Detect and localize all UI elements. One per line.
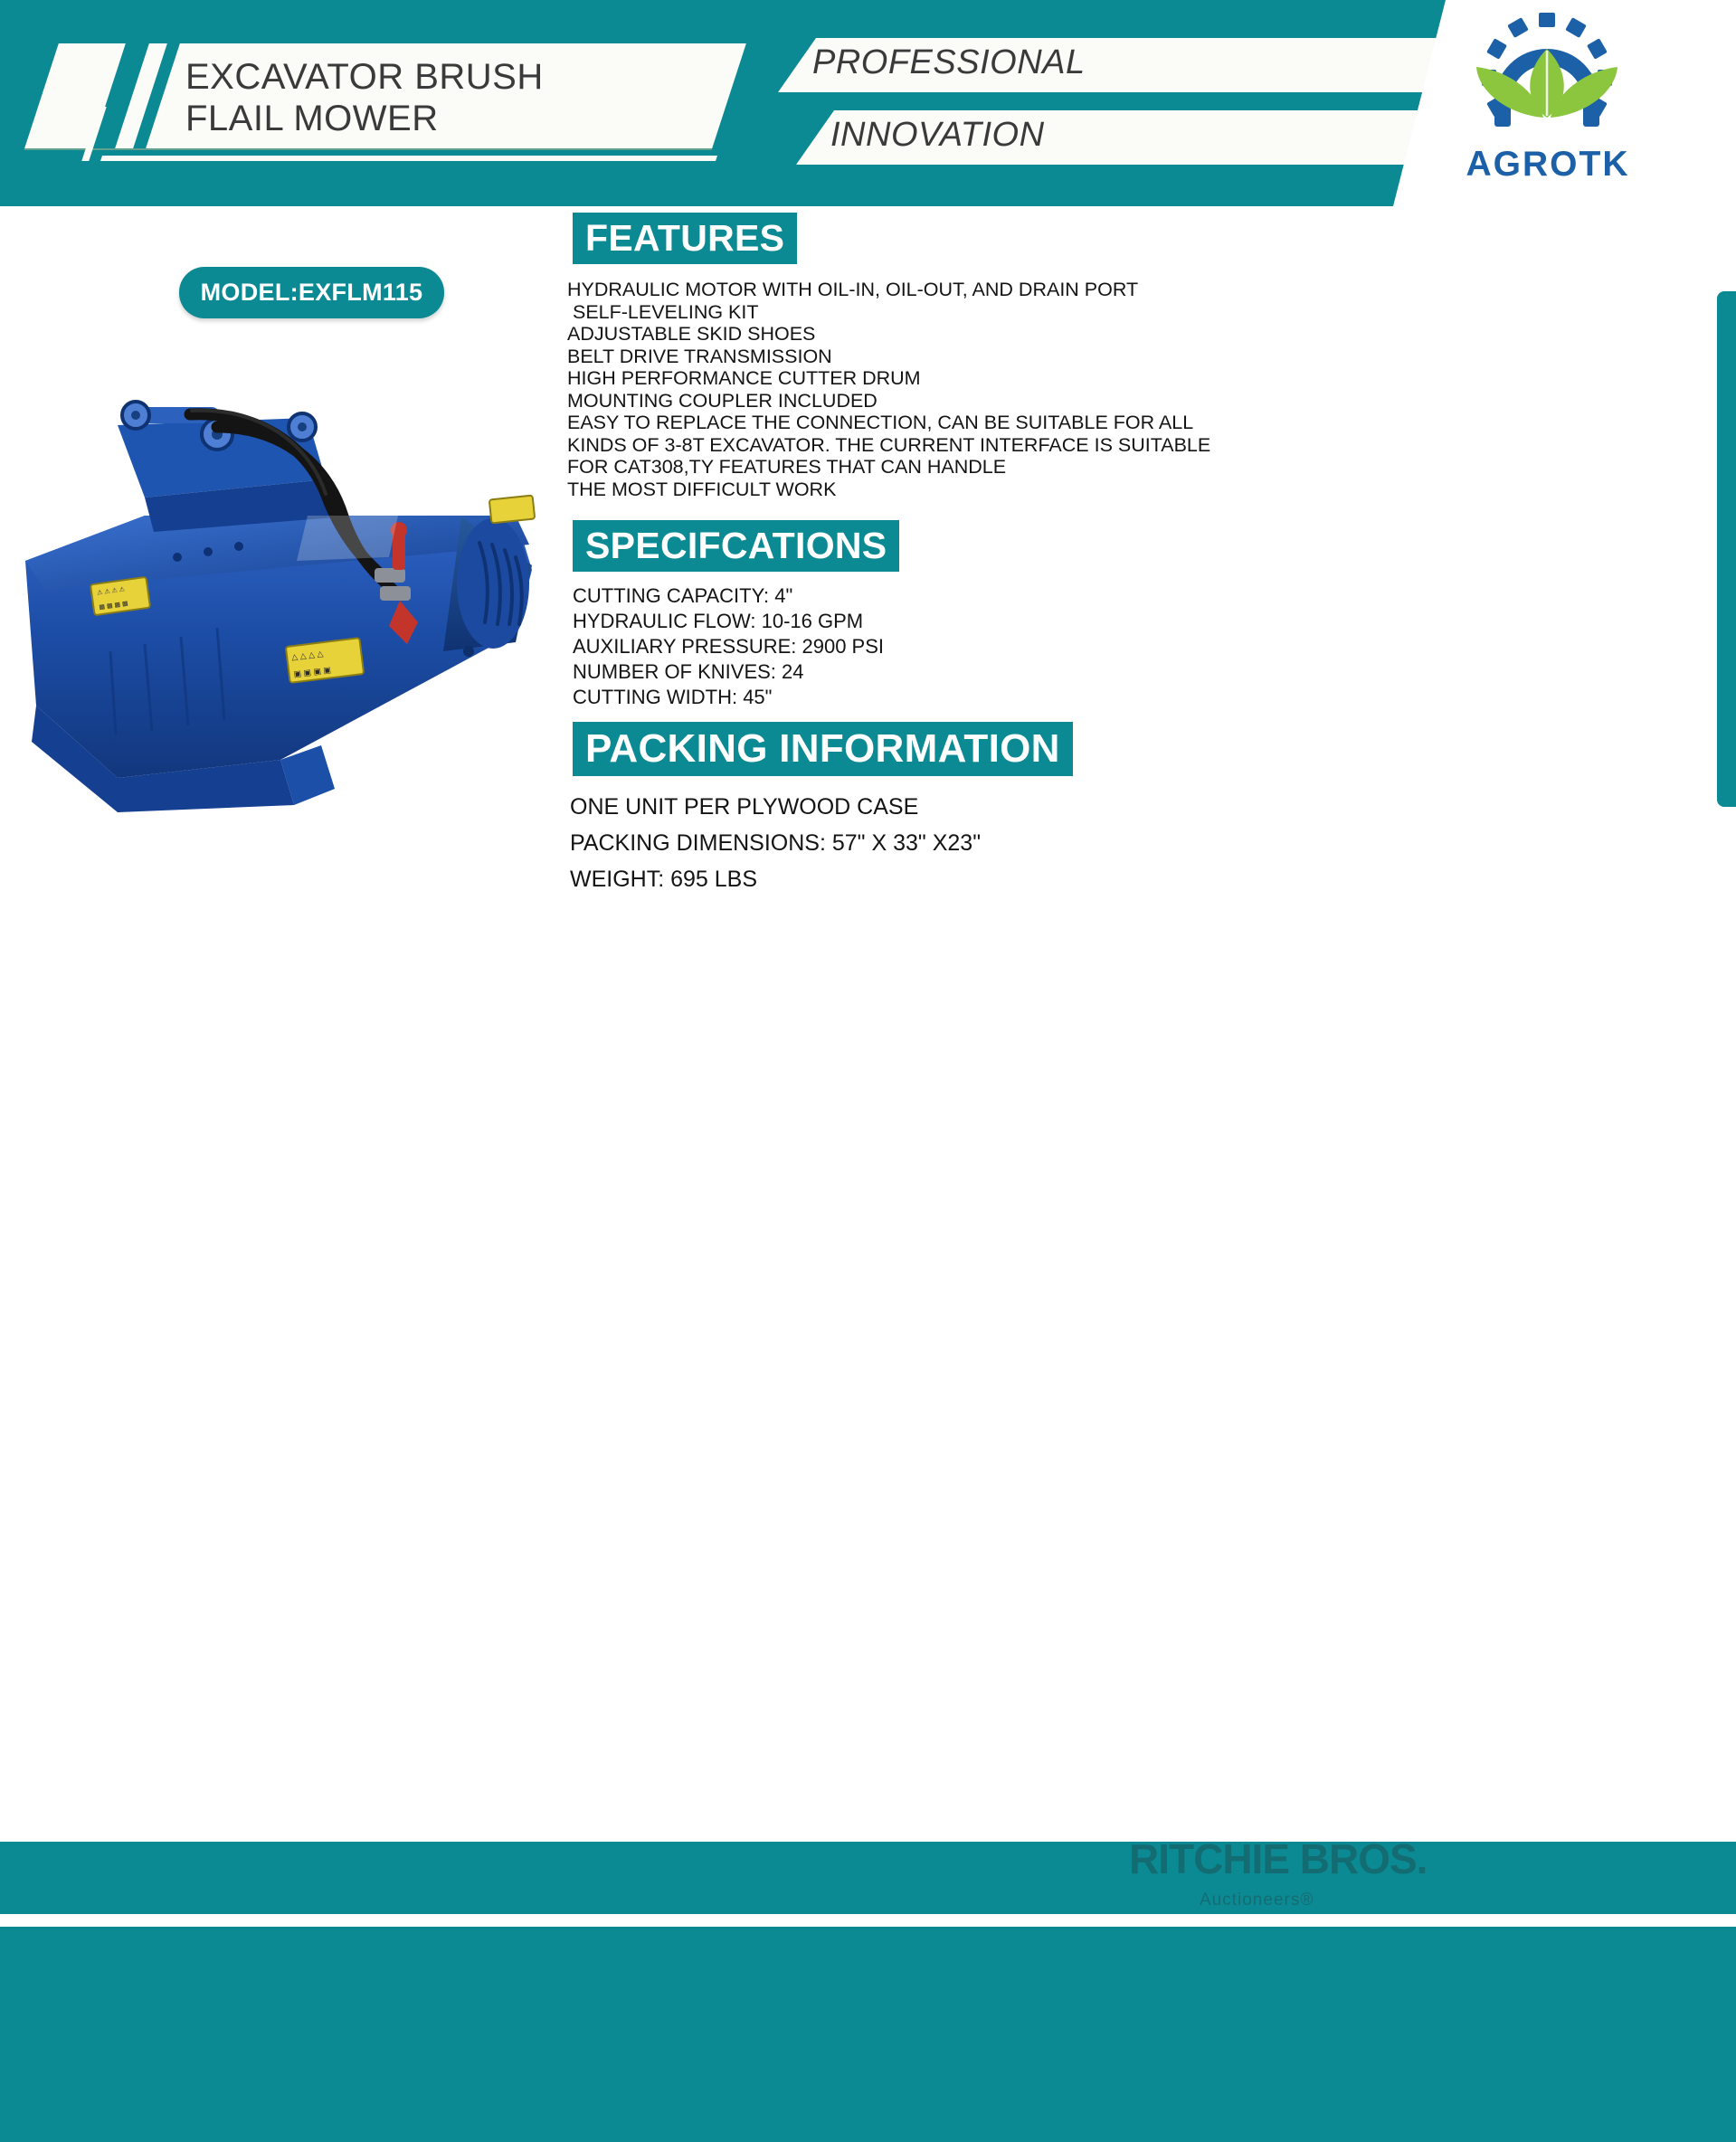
model-badge: MODEL:EXFLM115: [179, 267, 444, 318]
watermark-line-1: RITCHIE BROS.: [1129, 1838, 1708, 1880]
tagline-professional: PROFESSIONAL: [812, 43, 1086, 82]
list-item: EASY TO REPLACE THE CONNECTION, CAN BE S…: [567, 412, 1219, 434]
list-item: HYDRAULIC MOTOR WITH OIL-IN, OIL-OUT, AN…: [567, 279, 1219, 301]
specifications-list: CUTTING CAPACITY: 4" HYDRAULIC FLOW: 10-…: [573, 583, 1043, 710]
list-item: ADJUSTABLE SKID SHOES: [567, 323, 1219, 346]
page-footer: RITCHIE BROS. Auctioneers®: [0, 915, 1736, 1227]
list-item: SELF-LEVELING KIT: [567, 301, 1219, 324]
page-header: EXCAVATOR BRUSH FLAIL MOWER PROFESSIONAL…: [0, 0, 1736, 206]
section-heading-specifications: SPECIFCATIONS: [573, 520, 899, 572]
right-edge-tab: [1717, 291, 1736, 807]
list-item: BELT DRIVE TRANSMISSION: [567, 346, 1219, 368]
list-item: HYDRAULIC FLOW: 10-16 GPM: [573, 609, 1043, 634]
watermark: RITCHIE BROS. Auctioneers®: [1129, 1838, 1708, 1919]
list-item: FOR CAT308,TY FEATURES THAT CAN HANDLE: [567, 456, 1219, 479]
features-list: HYDRAULIC MOTOR WITH OIL-IN, OIL-OUT, AN…: [567, 279, 1219, 500]
list-item: WEIGHT: 695 LBS: [570, 861, 1131, 897]
page-title: EXCAVATOR BRUSH FLAIL MOWER: [185, 47, 692, 148]
list-item: CUTTING WIDTH: 45": [573, 685, 1043, 710]
list-item: CUTTING CAPACITY: 4": [573, 583, 1043, 609]
brand-wordmark: AGROTK: [1426, 145, 1670, 185]
section-heading-packing: PACKING INFORMATION: [573, 722, 1073, 776]
product-title-line-2: FLAIL MOWER: [185, 98, 692, 139]
list-item: ONE UNIT PER PLYWOOD CASE: [570, 789, 1131, 825]
section-heading-features: FEATURES: [573, 213, 797, 264]
footer-band-lower: [0, 1927, 1736, 2142]
list-item: HIGH PERFORMANCE CUTTER DRUM: [567, 367, 1219, 390]
list-item: NUMBER OF KNIVES: 24: [573, 659, 1043, 685]
list-item: THE MOST DIFFICULT WORK: [567, 479, 1219, 501]
packing-list: ONE UNIT PER PLYWOOD CASE PACKING DIMENS…: [570, 789, 1131, 897]
title-underline: [100, 156, 717, 161]
tagline-innovation: INNOVATION: [830, 116, 1045, 155]
product-image: ⚠ ⚠ ⚠ ⚠▩ ▩ ▩ ▩ △ △ △ △▣ ▣ ▣ ▣: [9, 380, 552, 814]
watermark-line-2: Auctioneers®: [1129, 1880, 1708, 1921]
list-item: KINDS OF 3-8T EXCAVATOR. THE CURRENT INT…: [567, 434, 1219, 457]
list-item: MOUNTING COUPLER INCLUDED: [567, 390, 1219, 412]
list-item: AUXILIARY PRESSURE: 2900 PSI: [573, 634, 1043, 659]
product-title-line-1: EXCAVATOR BRUSH: [185, 56, 692, 98]
list-item: PACKING DIMENSIONS: 57" X 33" X23": [570, 825, 1131, 861]
gear-leaf-logo-icon: [1438, 7, 1655, 143]
